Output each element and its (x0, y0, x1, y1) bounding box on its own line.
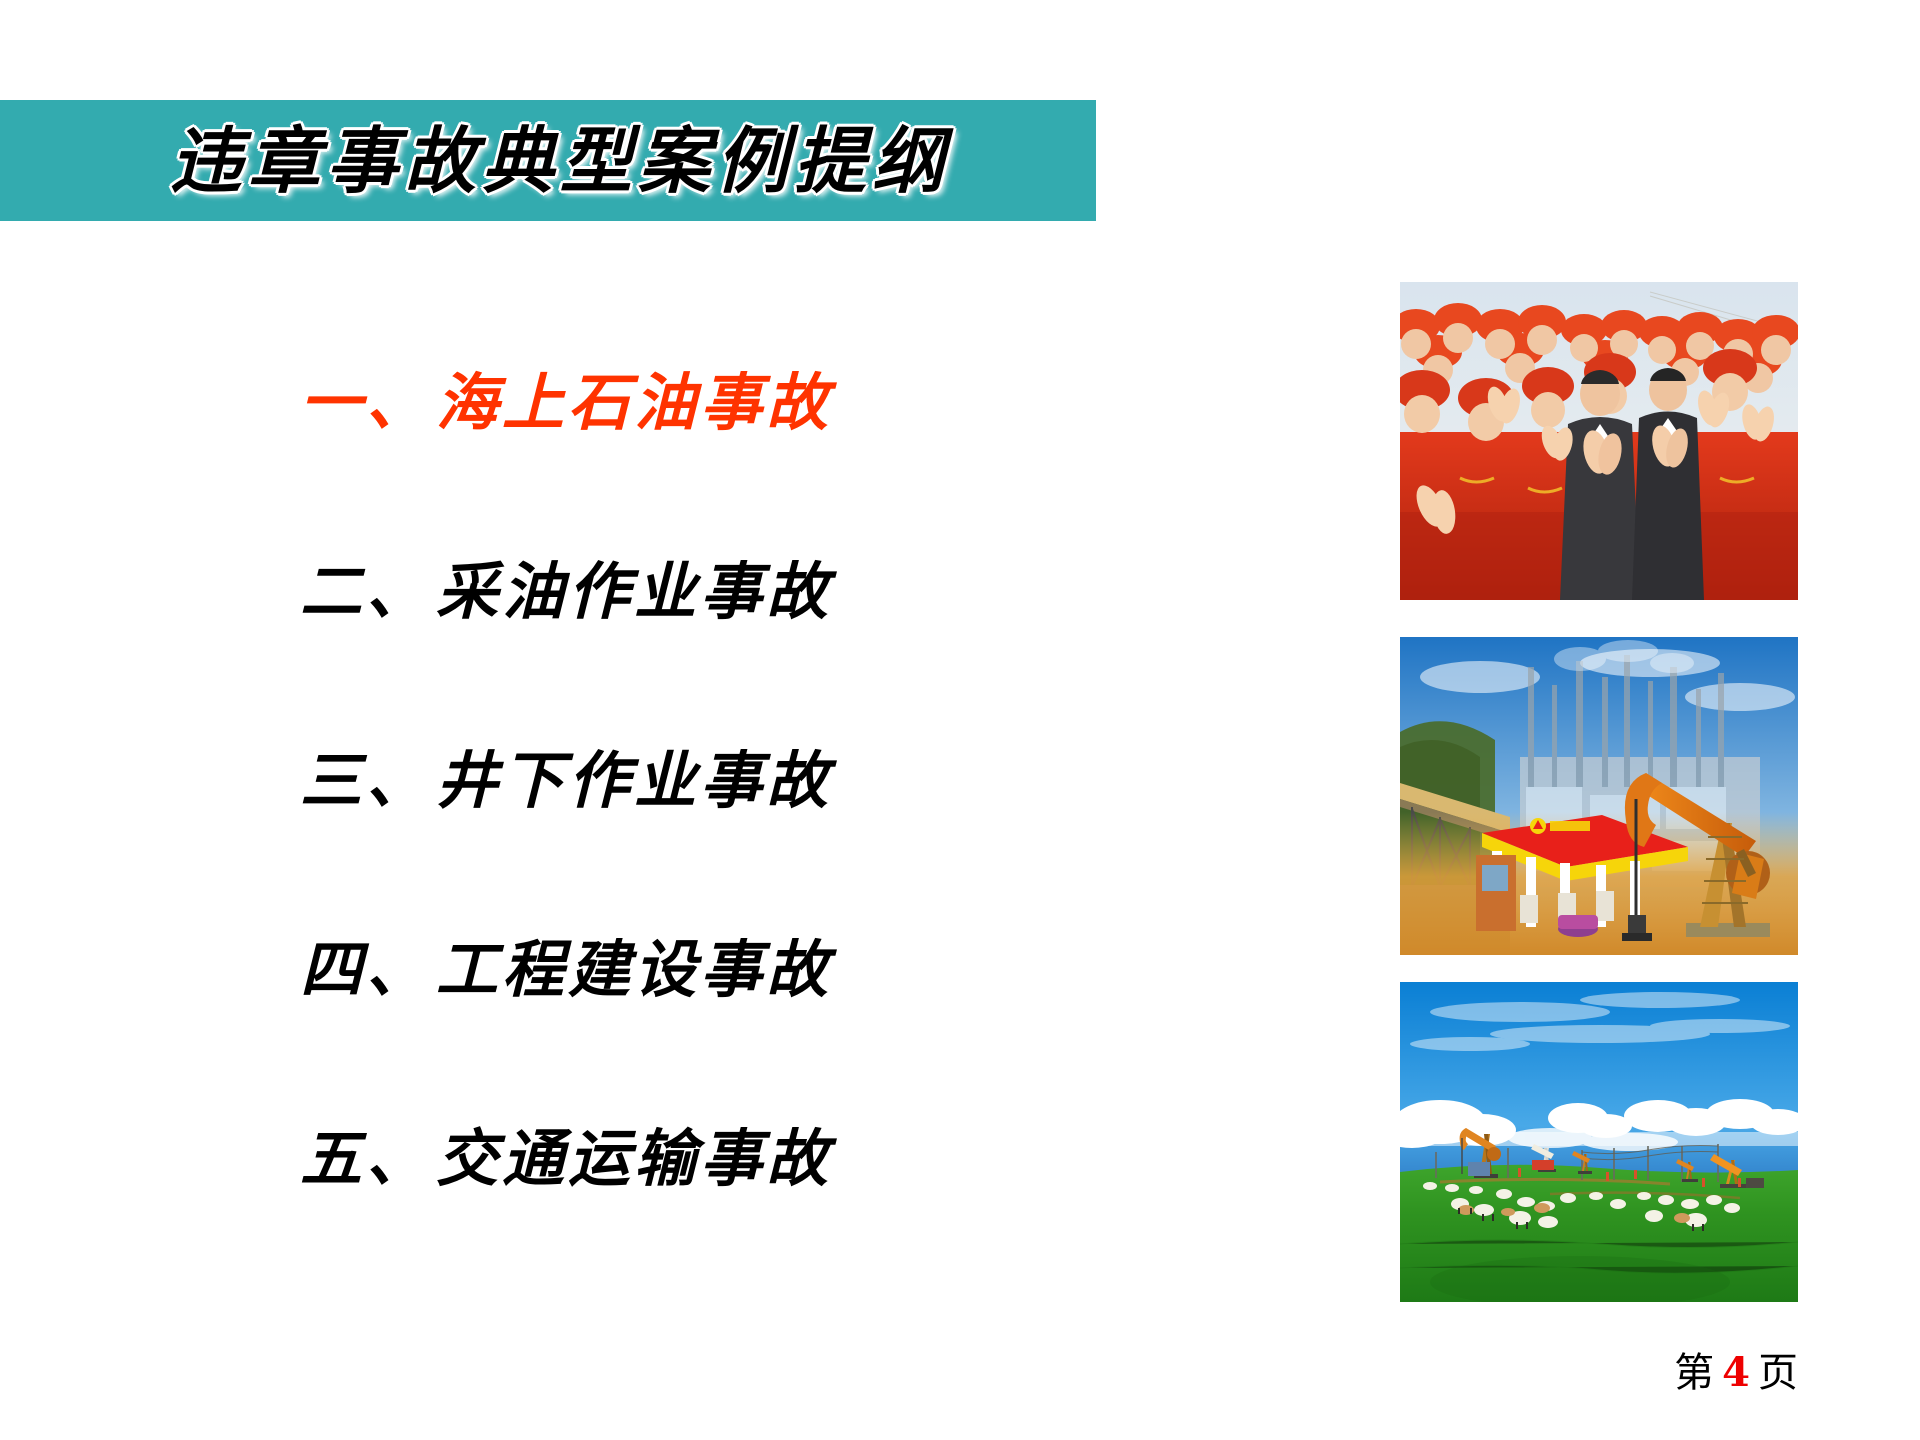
page-footer-suffix: 页 (1758, 1350, 1798, 1396)
outline-item-3[interactable]: 三、井下作业事故 (300, 750, 1060, 822)
outline-item-4[interactable]: 四、工程建设事故 (300, 939, 1060, 1011)
outline-item-2-label: 采油作业事故 (436, 555, 832, 628)
outline-item-5-label: 交通运输事故 (436, 1122, 832, 1195)
presentation-slide: 违章事故典型案例提纲 一、海上石油事故 二、采油作业事故 三、井下作业事故 四、… (0, 0, 1920, 1440)
page-footer: 第4页 (1420, 1340, 1798, 1398)
oil-workers-applauding-photo (1400, 282, 1798, 600)
outline-list: 一、海上石油事故 二、采油作业事故 三、井下作业事故 四、工程建设事故 五、交通… (300, 372, 1060, 1200)
outline-item-4-number: 四、 (300, 933, 432, 1006)
outline-item-2[interactable]: 二、采油作业事故 (300, 561, 1060, 633)
outline-item-2-number: 二、 (300, 555, 432, 628)
oil-industry-composite-photo (1400, 637, 1798, 955)
outline-item-3-label: 井下作业事故 (436, 744, 832, 817)
page-title: 违章事故典型案例提纲 (170, 106, 970, 216)
outline-item-1-label: 海上石油事故 (436, 366, 832, 439)
oil-workers-applauding-illustration (1400, 282, 1798, 600)
grassland-oilfield-photo (1400, 982, 1798, 1302)
outline-item-1-number: 一、 (300, 366, 432, 439)
grassland-oilfield-illustration (1400, 982, 1798, 1302)
outline-item-4-label: 工程建设事故 (436, 933, 832, 1006)
oil-industry-composite-illustration (1400, 637, 1798, 955)
page-footer-prefix: 第 (1674, 1350, 1714, 1396)
outline-item-3-number: 三、 (300, 744, 432, 817)
page-number: 4 (1714, 1349, 1758, 1396)
outline-item-1[interactable]: 一、海上石油事故 (300, 372, 1060, 444)
outline-item-5[interactable]: 五、交通运输事故 (300, 1128, 1060, 1200)
outline-item-5-number: 五、 (300, 1122, 432, 1195)
